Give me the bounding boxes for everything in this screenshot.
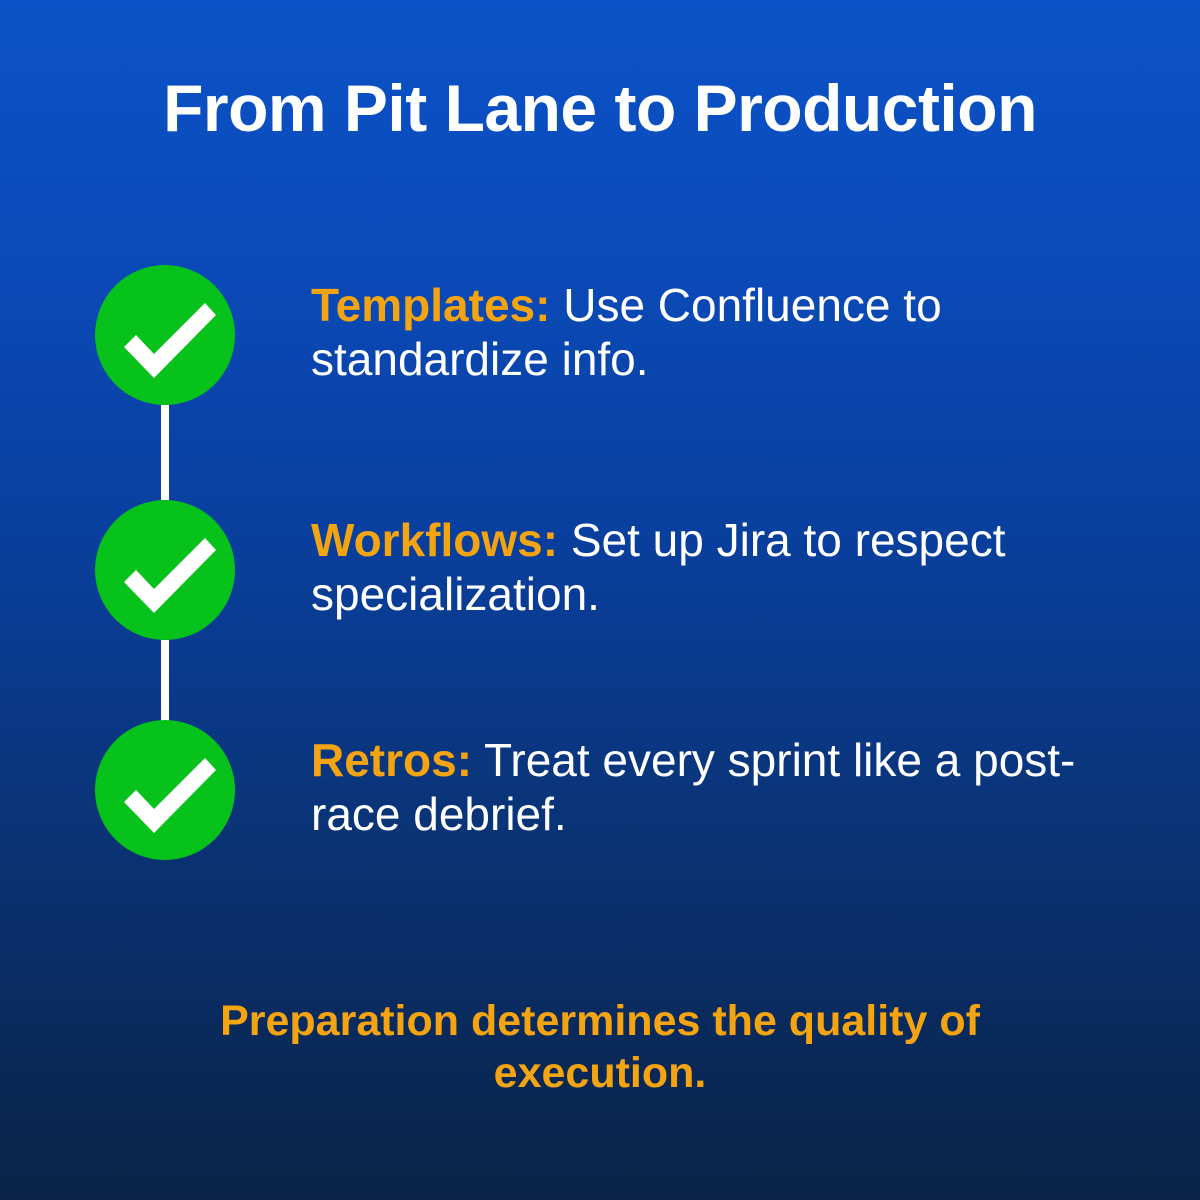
page-title: From Pit Lane to Production — [0, 72, 1200, 145]
list-item-label: Workflows: — [311, 514, 558, 566]
list-item: Templates: Use Confluence to standardize… — [0, 265, 1200, 405]
list-item-text: Retros: Treat every sprint like a post-r… — [311, 733, 1111, 841]
check-circle-icon — [95, 500, 235, 640]
list-item-label: Templates: — [311, 279, 550, 331]
list-item: Retros: Treat every sprint like a post-r… — [0, 720, 1200, 860]
list-item-label: Retros: — [311, 734, 472, 786]
list-item-text: Templates: Use Confluence to standardize… — [311, 278, 1111, 386]
timeline-connector-1 — [161, 405, 169, 500]
check-circle-icon — [95, 720, 235, 860]
poster-canvas: From Pit Lane to Production Templates: U… — [0, 0, 1200, 1200]
list-item: Workflows: Set up Jira to respect specia… — [0, 500, 1200, 640]
check-circle-icon — [95, 265, 235, 405]
footer-tagline: Preparation determines the quality of ex… — [110, 995, 1090, 1099]
list-item-text: Workflows: Set up Jira to respect specia… — [311, 513, 1111, 621]
